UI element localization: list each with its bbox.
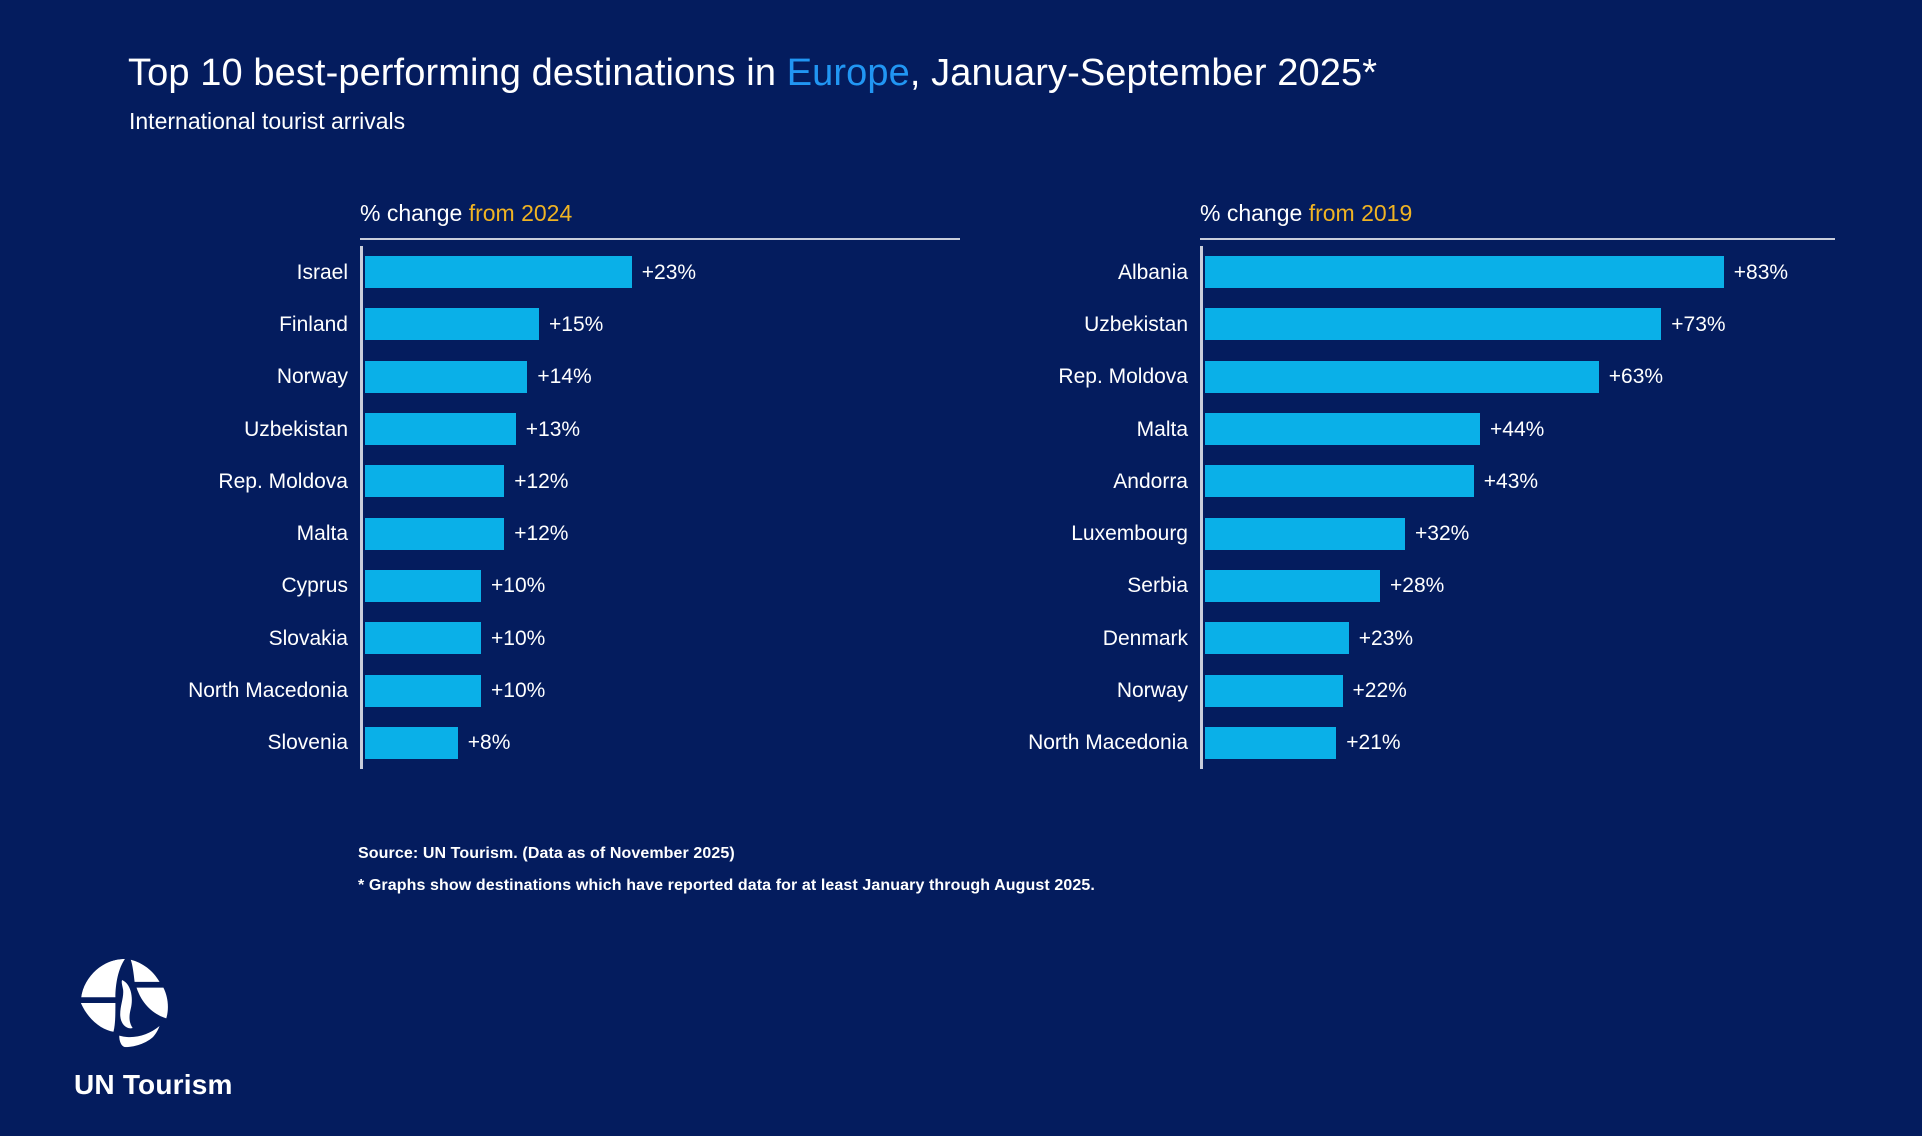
bar — [1205, 308, 1661, 340]
source-note: Source: UN Tourism. (Data as of November… — [358, 845, 1095, 863]
page-subtitle: International tourist arrivals — [129, 108, 405, 135]
bar-chart-from-2024: Israel+23%Finland+15%Norway+14%Uzbekista… — [360, 246, 960, 769]
bar-wrapper: +10% — [365, 570, 545, 602]
bar — [1205, 465, 1474, 497]
bar-row: Rep. Moldova+63% — [1202, 351, 1835, 403]
chart-header-year: from 2019 — [1309, 200, 1413, 226]
bar-category-label: North Macedonia — [1028, 732, 1202, 753]
bar — [1205, 256, 1724, 288]
chart-header-prefix: % change — [1200, 200, 1309, 226]
bar-value-label: +12% — [514, 523, 568, 544]
bar-category-label: Cyprus — [281, 575, 362, 596]
bar-category-label: Finland — [279, 314, 362, 335]
bar-category-label: Norway — [277, 366, 362, 387]
bar-value-label: +44% — [1490, 419, 1544, 440]
page-title-region-accent: Europe — [787, 52, 910, 94]
bar-category-label: Rep. Moldova — [1058, 366, 1202, 387]
bar-category-label: Malta — [297, 523, 362, 544]
bar-row: Malta+44% — [1202, 403, 1835, 455]
bar-value-label: +23% — [1359, 628, 1413, 649]
bar-value-label: +10% — [491, 628, 545, 649]
un-tourism-globe-icon — [77, 955, 173, 1051]
bar-category-label: Serbia — [1127, 575, 1202, 596]
bar-wrapper: +32% — [1205, 518, 1469, 550]
bar-value-label: +22% — [1353, 680, 1407, 701]
bar-row: Serbia+28% — [1202, 560, 1835, 612]
bar-row: Uzbekistan+13% — [362, 403, 960, 455]
bar-wrapper: +22% — [1205, 675, 1407, 707]
bar — [1205, 413, 1480, 445]
footnotes: Source: UN Tourism. (Data as of November… — [358, 845, 1095, 909]
bar-wrapper: +83% — [1205, 256, 1788, 288]
bar-category-label: Malta — [1137, 419, 1202, 440]
bar-wrapper: +73% — [1205, 308, 1726, 340]
bar-wrapper: +10% — [365, 675, 545, 707]
bar — [365, 518, 504, 550]
bar-wrapper: +23% — [365, 256, 696, 288]
bar-row: Norway+22% — [1202, 664, 1835, 716]
bar-wrapper: +21% — [1205, 727, 1401, 759]
bar-row: Finland+15% — [362, 298, 960, 350]
bar-wrapper: +63% — [1205, 361, 1663, 393]
bar-value-label: +73% — [1671, 314, 1725, 335]
bar-category-label: North Macedonia — [188, 680, 362, 701]
bar-wrapper: +43% — [1205, 465, 1538, 497]
chart-panel-from-2019: % change from 2019 Albania+83%Uzbekistan… — [1200, 200, 1835, 769]
bar-category-label: Slovenia — [267, 732, 362, 753]
bar-category-label: Luxembourg — [1071, 523, 1202, 544]
bar — [365, 361, 527, 393]
bar-wrapper: +15% — [365, 308, 603, 340]
bar-wrapper: +44% — [1205, 413, 1544, 445]
bar-wrapper: +14% — [365, 361, 592, 393]
bar — [365, 256, 632, 288]
chart-header-year: from 2024 — [469, 200, 573, 226]
bar-category-label: Denmark — [1103, 628, 1202, 649]
bar-row: North Macedonia+21% — [1202, 717, 1835, 769]
bar — [365, 727, 458, 759]
bar — [365, 413, 516, 445]
bar-chart-from-2019: Albania+83%Uzbekistan+73%Rep. Moldova+63… — [1200, 246, 1835, 769]
chart-header-prefix: % change — [360, 200, 469, 226]
bar-value-label: +13% — [526, 419, 580, 440]
bar-value-label: +10% — [491, 575, 545, 596]
bar-value-label: +21% — [1346, 732, 1400, 753]
bar — [365, 622, 481, 654]
bar-row: Rep. Moldova+12% — [362, 455, 960, 507]
bar-category-label: Rep. Moldova — [218, 471, 362, 492]
bar — [1205, 570, 1380, 602]
bar-wrapper: +12% — [365, 465, 568, 497]
brand-logo: UN Tourism — [77, 955, 233, 1101]
bar-value-label: +12% — [514, 471, 568, 492]
bar — [365, 570, 481, 602]
bar-category-label: Uzbekistan — [244, 419, 362, 440]
bar-row: Slovenia+8% — [362, 717, 960, 769]
brand-name: UN Tourism — [74, 1069, 233, 1101]
bar-row: Albania+83% — [1202, 246, 1835, 298]
chart-panel-from-2024: % change from 2024 Israel+23%Finland+15%… — [360, 200, 960, 769]
bar-category-label: Andorra — [1113, 471, 1202, 492]
bar-category-label: Norway — [1117, 680, 1202, 701]
bar-row: Uzbekistan+73% — [1202, 298, 1835, 350]
bar-row: Luxembourg+32% — [1202, 507, 1835, 559]
chart-header-divider — [360, 238, 960, 240]
bar-wrapper: +12% — [365, 518, 568, 550]
page-title: Top 10 best-performing destinations in E… — [128, 52, 1377, 95]
bar-value-label: +23% — [642, 262, 696, 283]
bar — [1205, 727, 1336, 759]
page-title-part1: Top 10 best-performing destinations in — [128, 52, 787, 94]
bar-row: Andorra+43% — [1202, 455, 1835, 507]
bar-value-label: +28% — [1390, 575, 1444, 596]
bar — [1205, 675, 1343, 707]
bar-row: Cyprus+10% — [362, 560, 960, 612]
chart-header-from-2024: % change from 2024 — [360, 200, 960, 238]
bar-value-label: +83% — [1734, 262, 1788, 283]
bar-category-label: Israel — [297, 262, 362, 283]
bar-wrapper: +23% — [1205, 622, 1413, 654]
bar-row: Malta+12% — [362, 507, 960, 559]
bar — [365, 465, 504, 497]
bar-row: North Macedonia+10% — [362, 664, 960, 716]
bar-value-label: +43% — [1484, 471, 1538, 492]
chart-header-divider — [1200, 238, 1835, 240]
asterisk-note: * Graphs show destinations which have re… — [358, 877, 1095, 895]
bar-row: Israel+23% — [362, 246, 960, 298]
bar-value-label: +15% — [549, 314, 603, 335]
bar-value-label: +10% — [491, 680, 545, 701]
bar — [1205, 518, 1405, 550]
bar — [1205, 622, 1349, 654]
bar-value-label: +8% — [468, 732, 511, 753]
bar-category-label: Albania — [1118, 262, 1202, 283]
chart-header-from-2019: % change from 2019 — [1200, 200, 1835, 238]
bar-wrapper: +28% — [1205, 570, 1444, 602]
infographic-page: Top 10 best-performing destinations in E… — [0, 0, 1922, 1136]
bar-wrapper: +10% — [365, 622, 545, 654]
bar-value-label: +63% — [1609, 366, 1663, 387]
bar-row: Slovakia+10% — [362, 612, 960, 664]
bar-category-label: Uzbekistan — [1084, 314, 1202, 335]
bar — [365, 675, 481, 707]
bar-wrapper: +8% — [365, 727, 510, 759]
bar-wrapper: +13% — [365, 413, 580, 445]
bar-row: Norway+14% — [362, 351, 960, 403]
bar-value-label: +14% — [537, 366, 591, 387]
bar — [1205, 361, 1599, 393]
bar-category-label: Slovakia — [269, 628, 362, 649]
bar-value-label: +32% — [1415, 523, 1469, 544]
bar — [365, 308, 539, 340]
bar-row: Denmark+23% — [1202, 612, 1835, 664]
page-title-part2: , January-September 2025* — [910, 52, 1377, 94]
